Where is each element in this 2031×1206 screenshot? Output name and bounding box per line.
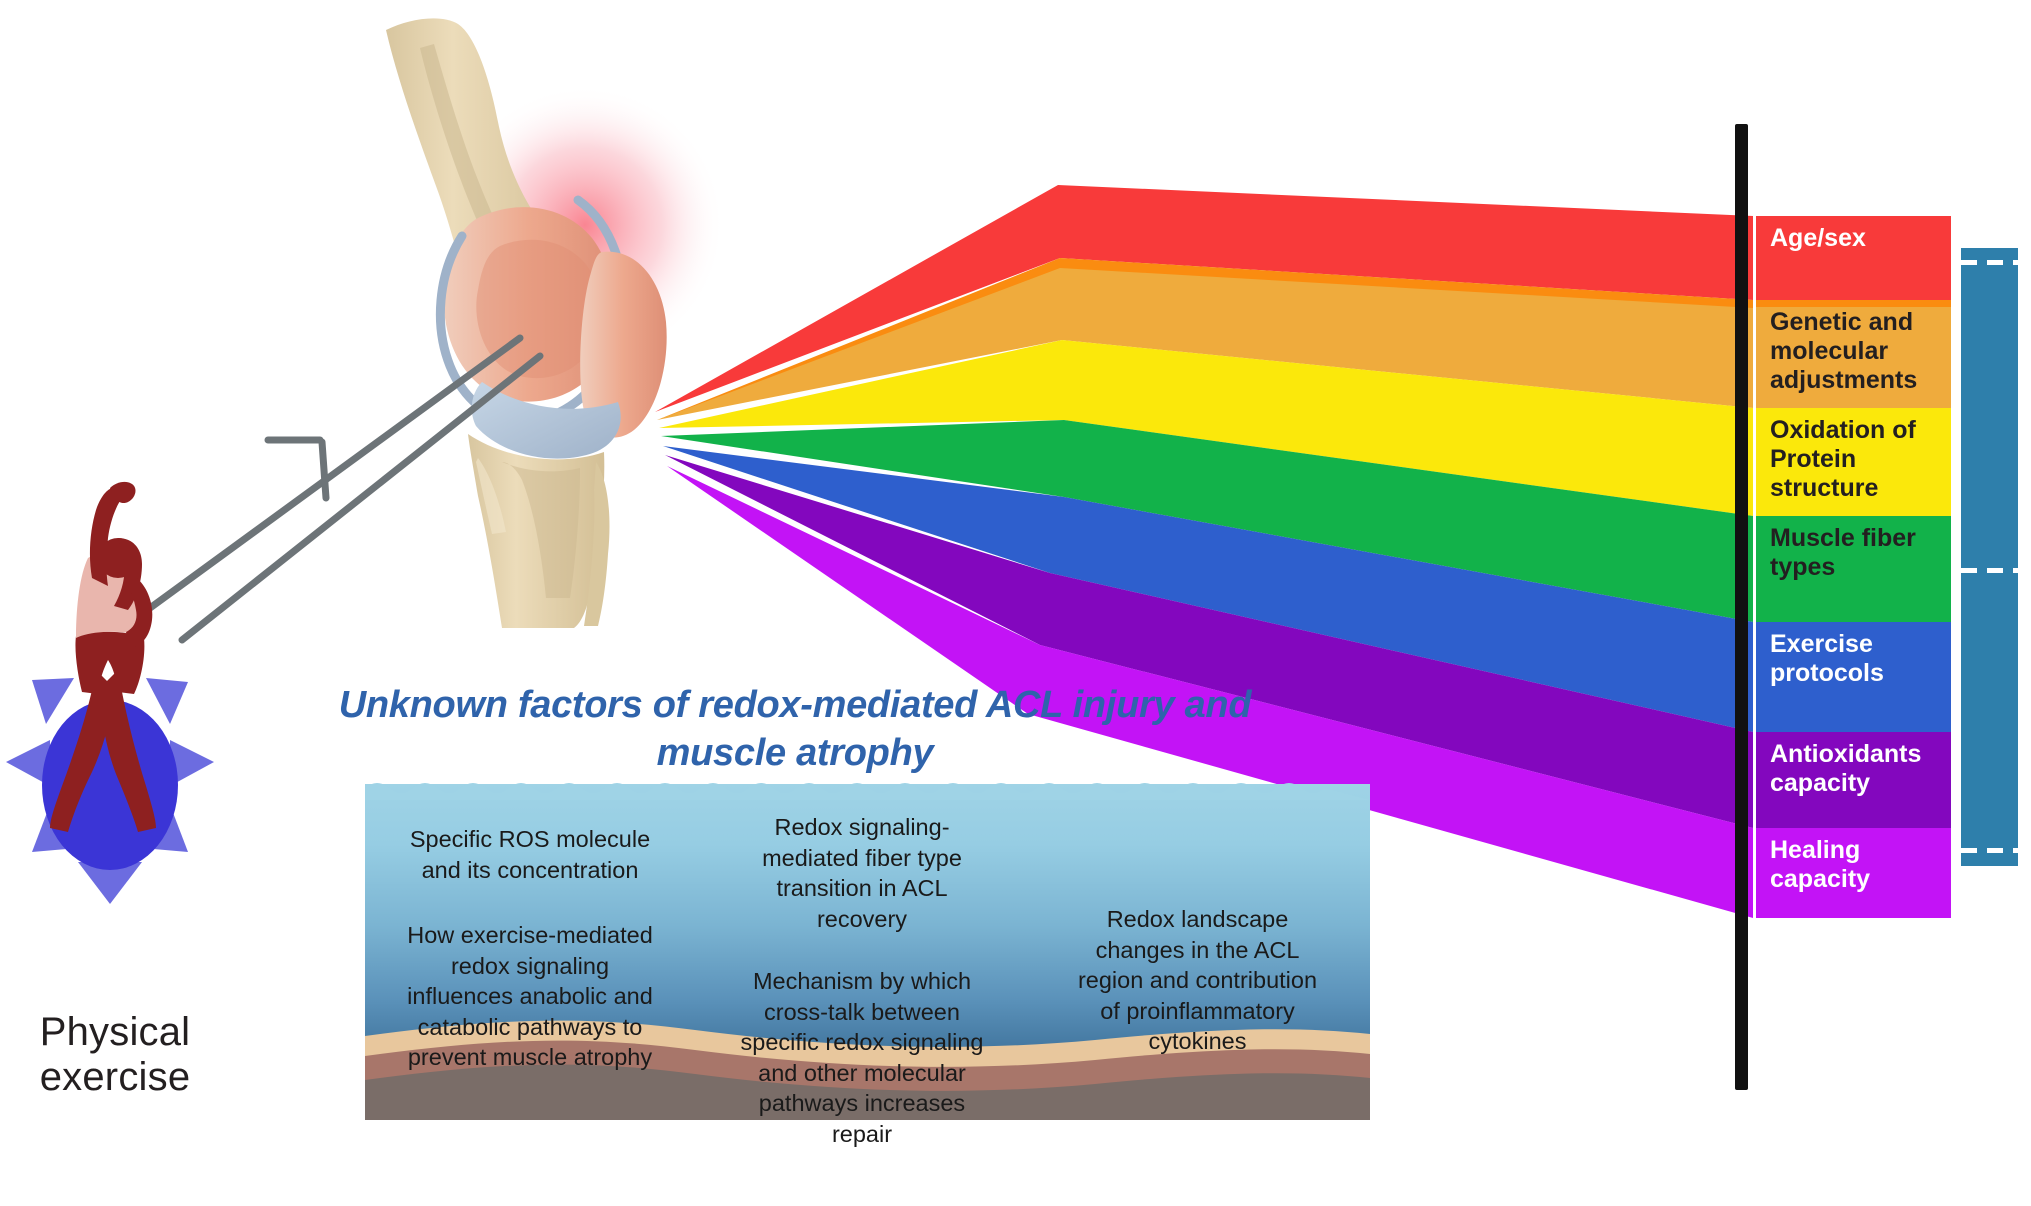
water-text-line: transition in ACL xyxy=(697,873,1027,904)
ray-top-left xyxy=(32,678,74,724)
band-label: Genetic and molecular adjustments xyxy=(1770,308,1951,395)
title-line-2: muscle atrophy xyxy=(330,730,1260,778)
water-text-line: repair xyxy=(697,1119,1027,1150)
physical-exercise-icon xyxy=(0,480,240,1060)
band-label: Muscle fiber types xyxy=(1770,524,1951,582)
physical-exercise-label: Physical exercise xyxy=(0,1010,230,1100)
teal-scale-bar xyxy=(1961,248,2018,866)
water-text-line: prevent muscle atrophy xyxy=(355,1042,705,1073)
band-label: Age/sex xyxy=(1770,224,1951,253)
band-healing-capacity[interactable]: Healing capacity xyxy=(1756,828,1951,918)
water-text-line: pathways increases xyxy=(697,1088,1027,1119)
water-text-line: redox signaling xyxy=(355,951,705,982)
teal-dash-marker-top xyxy=(1961,260,2018,265)
water-text-cross-talk-mechanism: Mechanism by which cross-talk between sp… xyxy=(697,966,1027,1149)
water-text-line: specific redox signaling xyxy=(697,1027,1027,1058)
band-label: Healing capacity xyxy=(1770,836,1951,894)
water-text-line: changes in the ACL xyxy=(1025,935,1370,966)
ray-top-right xyxy=(146,678,188,724)
water-text-specific-ros: Specific ROS molecule and its concentrat… xyxy=(365,824,695,885)
water-text-line: cytokines xyxy=(1025,1026,1370,1057)
page-title: Unknown factors of redox-mediated ACL in… xyxy=(330,682,1260,777)
teal-dash-marker-bottom xyxy=(1961,848,2018,853)
water-text-line: recovery xyxy=(697,904,1027,935)
water-text-line: region and contribution xyxy=(1025,965,1370,996)
pointer-tick-vertical xyxy=(322,442,326,498)
title-line-1: Unknown factors of redox-mediated ACL in… xyxy=(330,682,1260,730)
exercise-label-line1: Physical xyxy=(0,1010,230,1055)
exercise-label-line2: exercise xyxy=(0,1055,230,1100)
teal-dash-marker-middle xyxy=(1961,568,2018,573)
water-text-line: mediated fiber type xyxy=(697,843,1027,874)
water-text-line: catabolic pathways to xyxy=(355,1012,705,1043)
water-text-exercise-mediated-redox: How exercise-mediated redox signaling in… xyxy=(355,920,705,1073)
water-text-line: Redox landscape xyxy=(1025,904,1370,935)
band-label: Exercise protocols xyxy=(1770,630,1951,688)
water-text-line: cross-talk between xyxy=(697,997,1027,1028)
factor-label-column: Age/sex Genetic and molecular adjustment… xyxy=(1756,216,1951,866)
band-label: Antioxidants capacity xyxy=(1770,740,1951,798)
water-text-line: and other molecular xyxy=(697,1058,1027,1089)
unknown-factors-ocean-panel: Specific ROS molecule and its concentrat… xyxy=(365,776,1370,1120)
band-antioxidants-capacity[interactable]: Antioxidants capacity xyxy=(1756,732,1951,828)
water-text-redox-landscape: Redox landscape changes in the ACL regio… xyxy=(1025,904,1370,1057)
band-muscle-fiber-types[interactable]: Muscle fiber types xyxy=(1756,516,1951,622)
water-text-line: of proinflammatory xyxy=(1025,996,1370,1027)
band-label: Oxidation of Protein structure xyxy=(1770,416,1951,503)
water-text-line: Redox signaling- xyxy=(697,812,1027,843)
water-text-line: and its concentration xyxy=(365,855,695,886)
water-text-fiber-type-transition: Redox signaling- mediated fiber type tra… xyxy=(697,812,1027,934)
water-text-line: How exercise-mediated xyxy=(355,920,705,951)
vertical-axis-bar xyxy=(1735,124,1748,1090)
water-text-line: Mechanism by which xyxy=(697,966,1027,997)
band-genetic-molecular[interactable]: Genetic and molecular adjustments xyxy=(1756,300,1951,408)
water-text-line: influences anabolic and xyxy=(355,981,705,1012)
figure-canvas: Age/sex Genetic and molecular adjustment… xyxy=(0,0,2031,1206)
band-protein-oxidation[interactable]: Oxidation of Protein structure xyxy=(1756,408,1951,516)
band-age-sex[interactable]: Age/sex xyxy=(1756,216,1951,300)
water-surface-waves xyxy=(365,776,1370,800)
water-text-line: Specific ROS molecule xyxy=(365,824,695,855)
band-exercise-protocols[interactable]: Exercise protocols xyxy=(1756,622,1951,732)
